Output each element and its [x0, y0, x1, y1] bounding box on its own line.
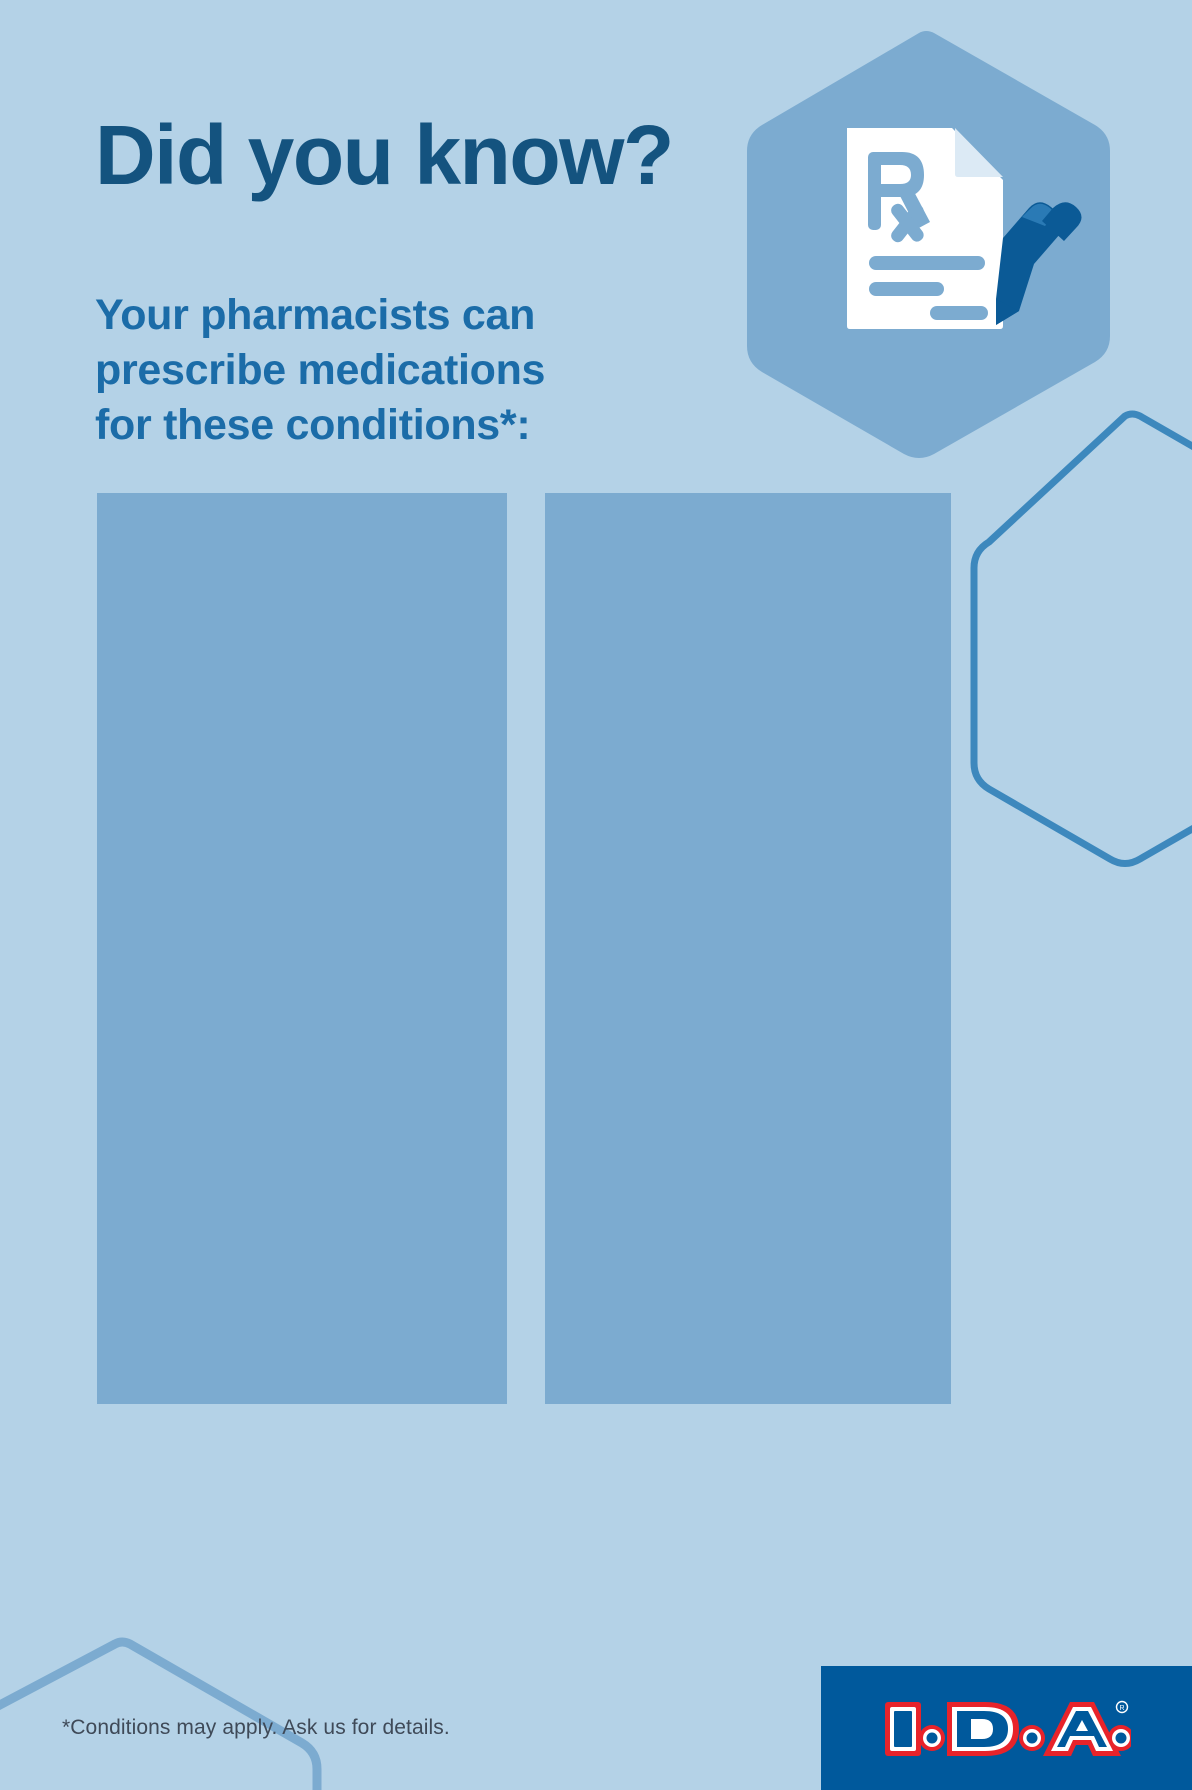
- page-subtitle: Your pharmacists can prescribe medicatio…: [95, 288, 545, 453]
- conditions-panel-right: [545, 493, 951, 1404]
- pencil-icon: [996, 202, 1082, 325]
- poster-canvas: Did you know? Your pharmacists can presc…: [0, 0, 1192, 1790]
- ida-logo: R: [881, 1698, 1131, 1760]
- prescription-document-icon: [847, 128, 1003, 329]
- svg-text:R: R: [1119, 1705, 1124, 1712]
- subtitle-line-2: prescribe medications: [95, 343, 545, 398]
- ida-logo-block: R: [821, 1666, 1192, 1790]
- subtitle-line-3: for these conditions*:: [95, 398, 545, 453]
- subtitle-line-1: Your pharmacists can: [95, 288, 545, 343]
- hexagon-outline-icon-right: [974, 414, 1192, 864]
- conditions-panel-left: [97, 493, 507, 1404]
- hexagon-filled-icon: [747, 31, 1110, 458]
- page-title: Did you know?: [95, 113, 673, 197]
- footnote-text: *Conditions may apply. Ask us for detail…: [62, 1716, 450, 1740]
